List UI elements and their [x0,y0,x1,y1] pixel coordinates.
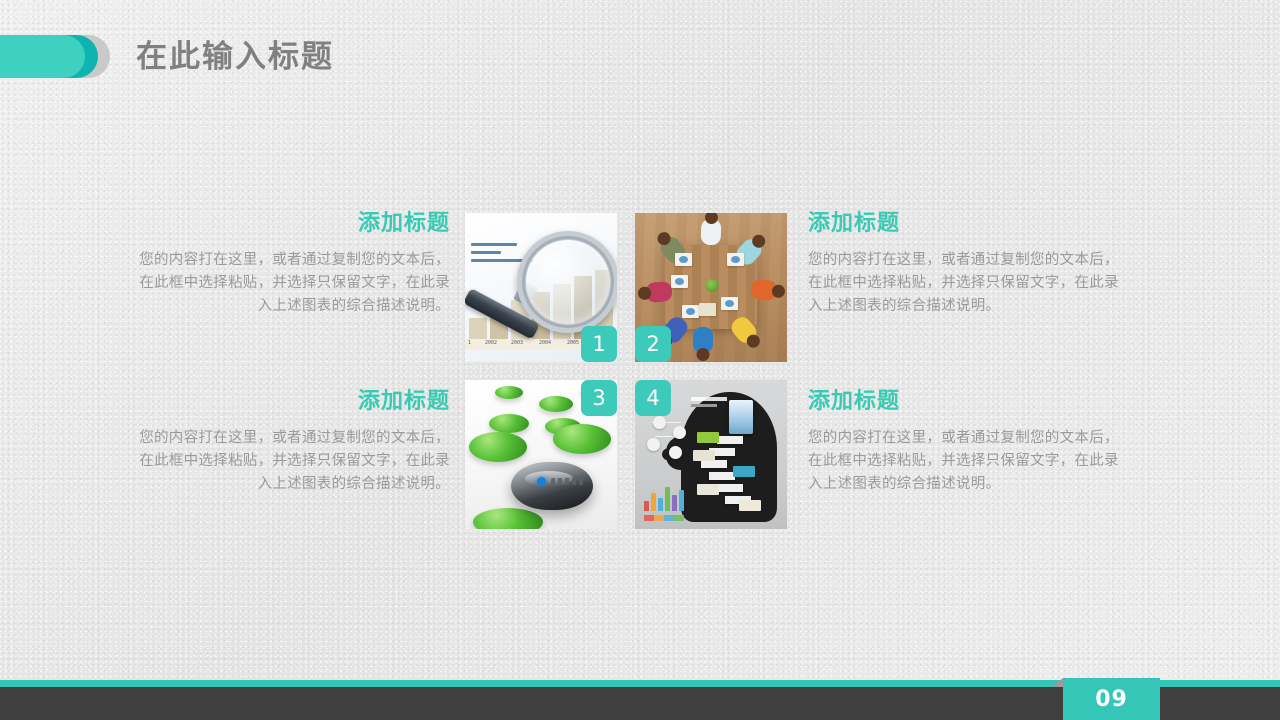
stair-step-5 [717,484,743,492]
mouse-device [511,462,593,510]
slide-canvas: 在此输入标题 添加标题 您的内容打在这里，或者通过复制您的文本后，在此框中选择粘… [0,0,1280,720]
block-1-body: 您的内容打在这里，或者通过复制您的文本后，在此框中选择粘贴，并选择只保留文字，在… [130,249,450,318]
stair-step-3 [701,460,727,468]
block-2-body: 您的内容打在这里，或者通过复制您的文本后，在此框中选择粘贴，并选择只保留文字，在… [808,249,1128,318]
image-tile-3[interactable]: 3 [465,380,617,529]
stair-tag-1 [697,432,719,443]
block-4-body: 您的内容打在这里，或者通过复制您的文本后，在此框中选择粘贴，并选择只保留文字，在… [808,427,1128,496]
pebble-7 [553,424,611,454]
block-3-body: 您的内容打在这里，或者通过复制您的文本后，在此框中选择粘贴，并选择只保留文字，在… [130,427,450,496]
paper-1 [675,253,692,266]
mini-chart-legend [644,515,684,521]
tile-2-number-badge[interactable]: 2 [635,326,671,362]
pebble-4 [489,414,529,433]
paper-2 [727,253,744,266]
axis-label-4: 2005 [567,340,579,346]
table-plant [705,279,719,292]
paper-5 [721,297,738,310]
paper-6 [699,303,716,316]
person-right [750,279,778,301]
axis-label-3: 2004 [539,340,551,346]
magnifier-lens [517,231,617,333]
person-top [701,219,722,246]
person-bottom [693,327,713,353]
paper-3 [671,275,688,288]
gear-icon [653,416,666,429]
block-2-title: 添加标题 [808,211,1128,237]
paper-4 [682,305,699,318]
stair-tag-2 [693,450,715,461]
mouse-buttons [551,478,585,485]
content-block-1: 添加标题 您的内容打在这里，或者通过复制您的文本后，在此框中选择粘贴，并选择只保… [130,211,450,318]
stair-tag-4 [697,484,719,495]
stair-step-4 [709,472,735,480]
header-deco-light-bar [0,35,85,78]
tile-1-number-badge[interactable]: 1 [581,326,617,362]
image-tile-4[interactable]: 4 [635,380,787,529]
bulb-icon [669,446,682,459]
dollar-icon [673,426,686,439]
image-tile-1[interactable]: 1 2002 2003 2004 2005 20 1 [465,213,617,362]
mouse-led [537,477,546,486]
mini-bar-chart [644,485,684,511]
infographic-heading-line [691,397,727,401]
chat-icon [647,438,660,451]
block-4-title: 添加标题 [808,389,1128,415]
tile-3-number-badge[interactable]: 3 [581,380,617,416]
tile-4-number-badge[interactable]: 4 [635,380,671,416]
content-block-3: 添加标题 您的内容打在这里，或者通过复制您的文本后，在此框中选择粘贴，并选择只保… [130,389,450,496]
pebble-2 [539,396,573,412]
infographic-subheading-line [691,404,717,407]
stair-tag-3 [733,466,755,477]
pebble-6 [469,432,527,462]
axis-label-0: 1 [468,340,471,346]
axis-label-2: 2003 [511,340,523,346]
block-3-title: 添加标题 [130,389,450,415]
image-tile-2[interactable]: 2 [635,213,787,362]
stair-tag-5 [739,500,761,511]
content-block-4: 添加标题 您的内容打在这里，或者通过复制您的文本后，在此框中选择粘贴，并选择只保… [808,389,1128,496]
page-tab-notch [1052,678,1063,687]
pebble-8 [473,508,543,529]
axis-label-1: 2002 [485,340,497,346]
content-block-2: 添加标题 您的内容打在这里，或者通过复制您的文本后，在此框中选择粘贴，并选择只保… [808,211,1128,318]
doorway [729,400,753,434]
page-number-badge: 09 [1063,678,1160,720]
block-1-title: 添加标题 [130,211,450,237]
pebble-1 [495,386,523,399]
stair-step-1 [717,436,743,444]
page-title: 在此输入标题 [136,36,334,78]
